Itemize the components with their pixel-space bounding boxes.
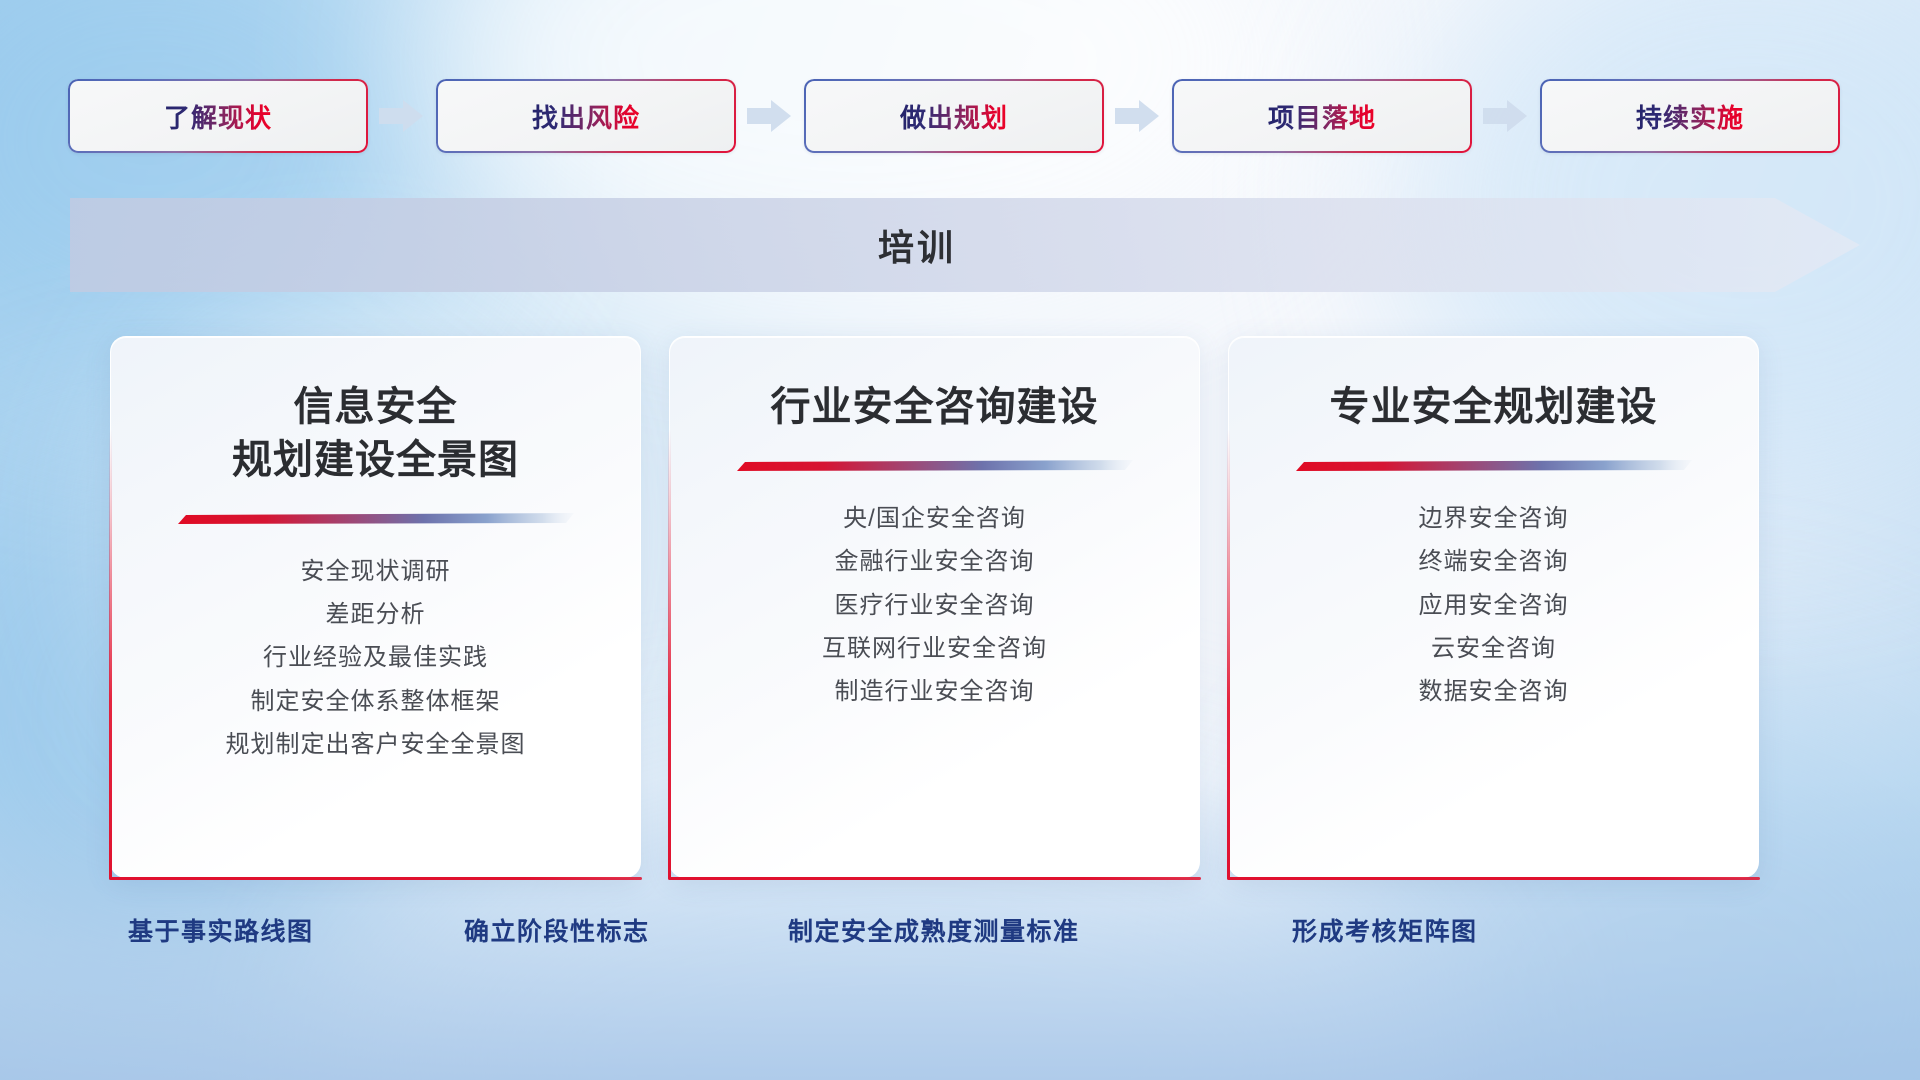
chevron-right-icon [379,98,425,134]
training-banner: 培训 [70,198,1860,292]
card-list-item[interactable]: 差距分析 [326,602,426,628]
chevron-right-icon [1115,98,1161,134]
card-inner: 行业安全咨询建设央/国企安全咨询金融行业安全咨询医疗行业安全咨询互联网行业安全咨… [670,337,1199,877]
process-step-row: 了解现状找出风险做出规划项目落地持续实施 [68,79,1860,153]
card-bottom-accent [1227,877,1760,880]
process-step-1[interactable]: 了解现状 [68,79,368,153]
card-divider [1296,460,1692,472]
card-list-item[interactable]: 互联网行业安全咨询 [822,636,1047,662]
card-list-item[interactable]: 规划制定出客户安全全景图 [226,732,526,758]
card-divider [178,513,574,525]
card-list-item[interactable]: 数据安全咨询 [1419,679,1569,705]
service-card-1[interactable]: 信息安全 规划建设全景图安全现状调研差距分析行业经验及最佳实践制定安全体系整体框… [110,336,641,878]
footer-label-1: 基于事实路线图 [128,912,314,948]
card-inner: 信息安全 规划建设全景图安全现状调研差距分析行业经验及最佳实践制定安全体系整体框… [111,337,640,877]
card-divider [737,460,1133,472]
footer-label-4: 形成考核矩阵图 [1292,912,1478,948]
service-card-3[interactable]: 专业安全规划建设边界安全咨询终端安全咨询应用安全咨询云安全咨询数据安全咨询 [1228,336,1759,878]
card-list-item[interactable]: 边界安全咨询 [1419,506,1569,532]
process-step-2[interactable]: 找出风险 [436,79,736,153]
card-list-item[interactable]: 行业经验及最佳实践 [263,645,488,671]
chevron-right-icon [747,98,793,134]
process-step-5[interactable]: 持续实施 [1540,79,1840,153]
card-list-item[interactable]: 制定安全体系整体框架 [251,689,501,715]
card-title: 行业安全咨询建设 [771,381,1099,434]
footer-label-3: 制定安全成熟度测量标准 [788,912,1080,948]
service-card-row: 信息安全 规划建设全景图安全现状调研差距分析行业经验及最佳实践制定安全体系整体框… [110,336,1810,878]
card-title: 专业安全规划建设 [1330,381,1658,434]
process-step-4[interactable]: 项目落地 [1172,79,1472,153]
banner-title: 培训 [70,198,1764,292]
card-list-item[interactable]: 应用安全咨询 [1419,593,1569,619]
process-step-label: 做出规划 [900,98,1008,135]
footer-label-row: 基于事实路线图确立阶段性标志制定安全成熟度测量标准形成考核矩阵图 [0,912,1920,962]
process-step-label: 了解现状 [164,98,272,135]
service-card-2[interactable]: 行业安全咨询建设央/国企安全咨询金融行业安全咨询医疗行业安全咨询互联网行业安全咨… [669,336,1200,878]
chevron-right-icon [1483,98,1529,134]
process-step-label: 项目落地 [1268,98,1376,135]
footer-label-2: 确立阶段性标志 [464,912,650,948]
card-list-item[interactable]: 医疗行业安全咨询 [835,593,1035,619]
card-list-item[interactable]: 终端安全咨询 [1419,549,1569,575]
card-item-list: 边界安全咨询终端安全咨询应用安全咨询云安全咨询数据安全咨询 [1419,506,1569,706]
card-list-item[interactable]: 央/国企安全咨询 [843,506,1026,532]
card-inner: 专业安全规划建设边界安全咨询终端安全咨询应用安全咨询云安全咨询数据安全咨询 [1229,337,1758,877]
process-step-label: 找出风险 [532,98,640,135]
card-list-item[interactable]: 制造行业安全咨询 [835,679,1035,705]
card-item-list: 安全现状调研差距分析行业经验及最佳实践制定安全体系整体框架规划制定出客户安全全景… [226,559,526,759]
process-step-label: 持续实施 [1636,98,1744,135]
card-title: 信息安全 规划建设全景图 [232,381,519,487]
card-list-item[interactable]: 金融行业安全咨询 [835,549,1035,575]
card-list-item[interactable]: 安全现状调研 [301,559,451,585]
card-bottom-accent [668,877,1201,880]
card-bottom-accent [109,877,642,880]
process-step-3[interactable]: 做出规划 [804,79,1104,153]
card-item-list: 央/国企安全咨询金融行业安全咨询医疗行业安全咨询互联网行业安全咨询制造行业安全咨… [822,506,1047,706]
slide-canvas: 了解现状找出风险做出规划项目落地持续实施 培训 信息安全 规划建设全景图安全现状… [0,0,1920,1080]
card-list-item[interactable]: 云安全咨询 [1431,636,1556,662]
